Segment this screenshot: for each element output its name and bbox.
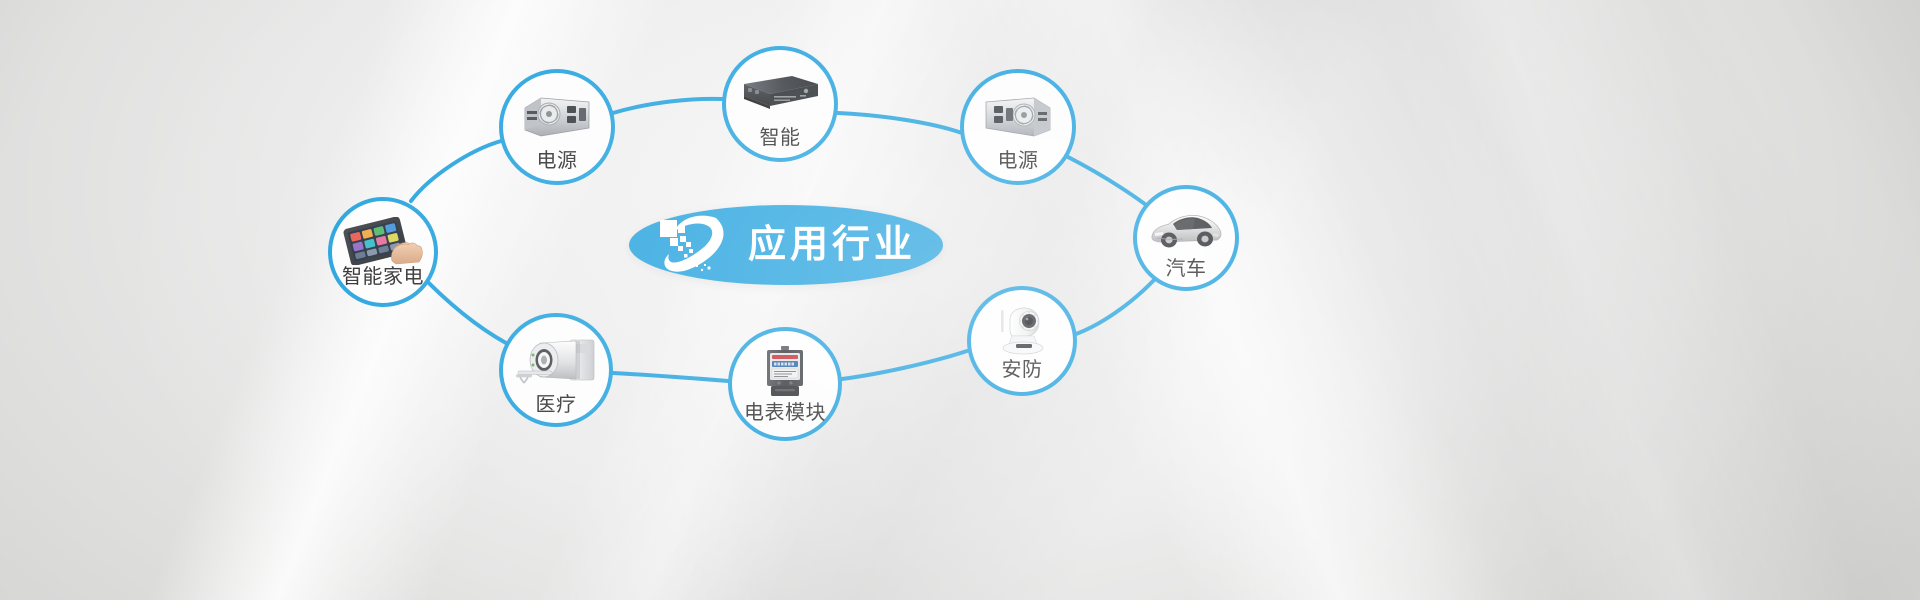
center-badge: 应用行业 — [629, 205, 943, 285]
link-medical-smarthome — [418, 272, 506, 343]
node-label: 电表模块 — [744, 403, 826, 423]
link-security-meter — [842, 351, 967, 379]
node-label: 智能家电 — [342, 267, 424, 287]
node-medical[interactable]: 医疗 — [499, 313, 613, 427]
link-automotive-security — [1076, 280, 1154, 334]
node-label: 智能 — [760, 128, 801, 148]
car-icon — [1137, 209, 1235, 249]
link-smarthome-powerleft — [411, 141, 501, 201]
application-industries-banner: 应用行业 — [0, 0, 1920, 600]
electric-meter-icon — [732, 345, 838, 399]
node-automotive[interactable]: 汽车 — [1133, 185, 1239, 291]
node-label: 汽车 — [1166, 259, 1207, 279]
node-label: 电源 — [537, 151, 578, 171]
node-power-left[interactable]: 电源 — [499, 69, 615, 185]
node-smart-home[interactable]: 智能家电 — [328, 197, 438, 307]
power-supply-icon — [503, 93, 611, 141]
power-supply-icon — [964, 93, 1072, 141]
rack-server-icon — [726, 72, 834, 116]
mri-scanner-icon — [503, 337, 609, 385]
link-meter-medical — [613, 373, 728, 381]
ip-camera-icon — [971, 306, 1073, 356]
connection-links — [0, 0, 1920, 600]
link-intelligent-powerright — [838, 113, 962, 133]
center-badge-label: 应用行业 — [748, 226, 916, 264]
swoosh-pixel-logo-icon — [656, 212, 730, 278]
node-label: 医疗 — [536, 395, 577, 415]
node-intelligent[interactable]: 智能 — [722, 46, 838, 162]
node-meter-module[interactable]: 电表模块 — [728, 327, 842, 441]
node-security[interactable]: 安防 — [967, 286, 1077, 396]
node-label: 电源 — [998, 151, 1039, 171]
tablet-touch-icon — [332, 217, 434, 265]
node-label: 安防 — [1002, 360, 1043, 380]
node-power-right[interactable]: 电源 — [960, 69, 1076, 185]
link-powerleft-intelligent — [613, 99, 722, 113]
